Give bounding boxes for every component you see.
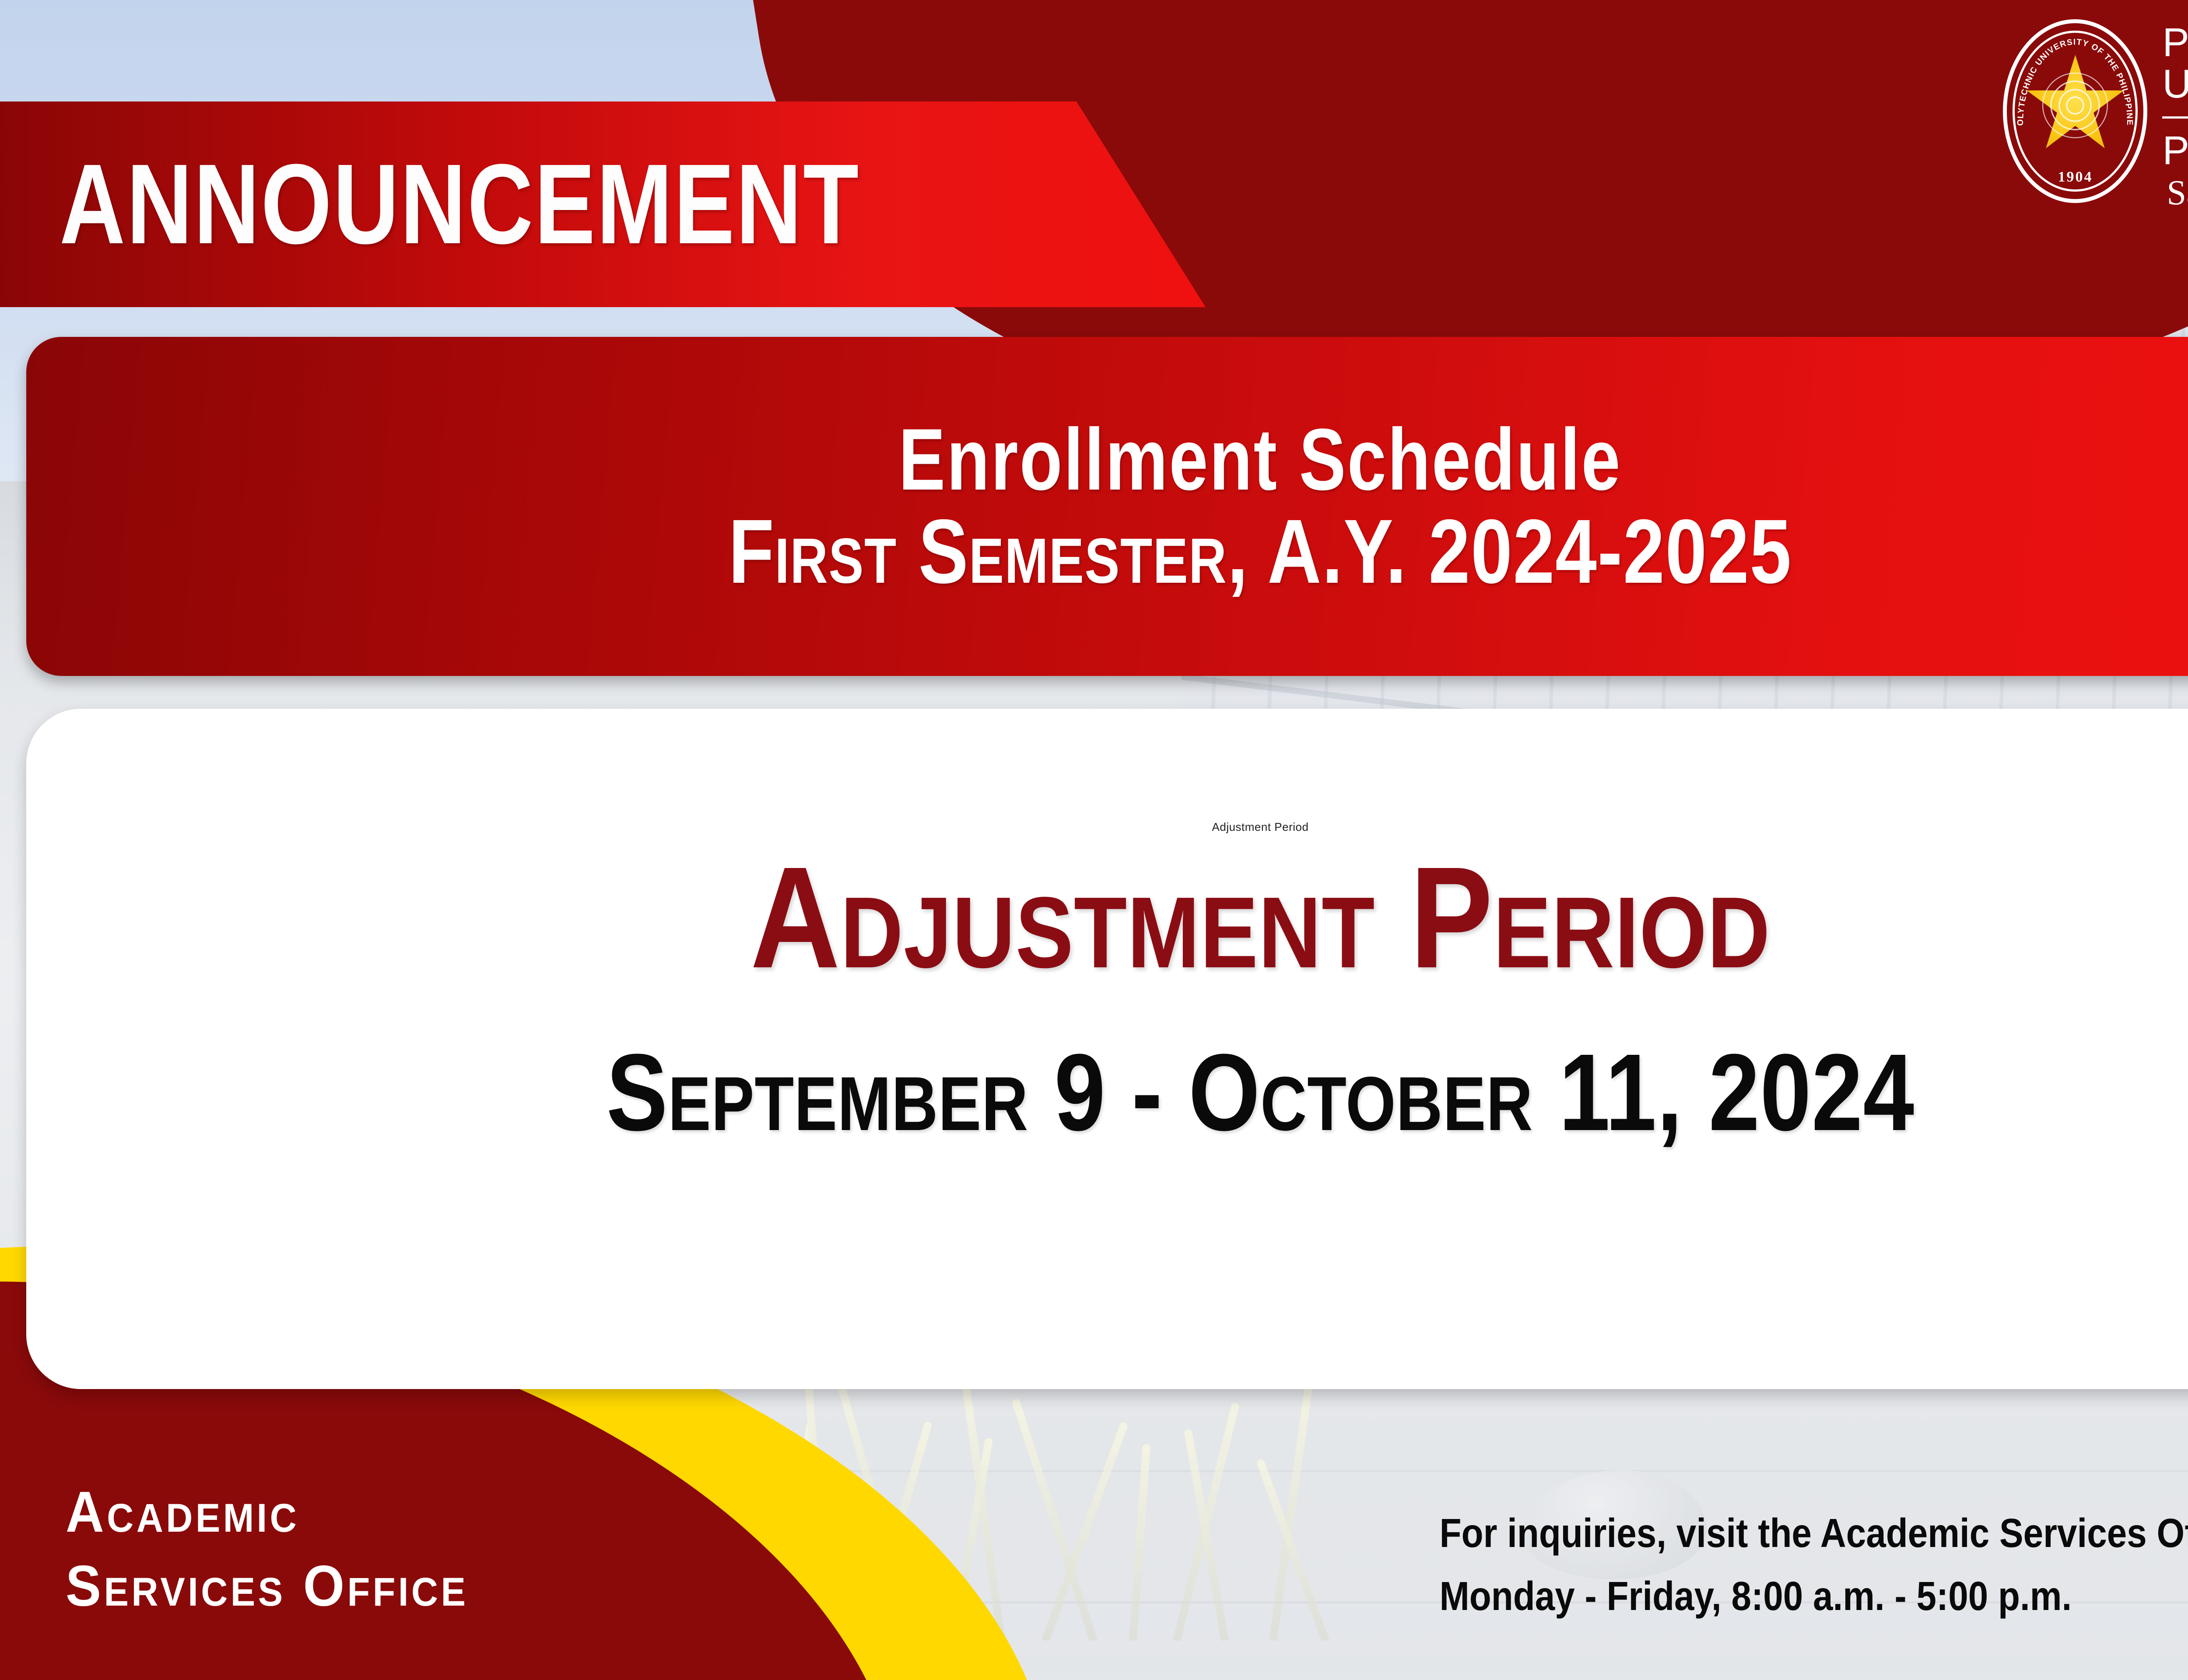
- academic-services-office-label: Academic Services Office: [66, 1475, 503, 1623]
- announcement-ribbon-label: ANNOUNCEMENT: [0, 147, 860, 261]
- inquiry-line1: For inquiries, visit the Academic Servic…: [1440, 1501, 2188, 1564]
- enrollment-schedule-banner: Enrollment Schedule First Semester, A.Y.…: [26, 337, 2188, 676]
- announcement-poster: ANNOUNCEMENT POLYTECHNIC UNIVERSITY OF T…: [0, 0, 2188, 1680]
- svg-text:POLYTECHNIC UNIVERSITY OF THE: POLYTECHNIC UNIVERSITY OF THE PHILIPPINE…: [2003, 19, 2134, 126]
- logo-word-university: UNIVERSITY: [2162, 63, 2188, 105]
- banner-line-enrollment-schedule: Enrollment Schedule: [899, 416, 1622, 504]
- pup-seal-icon: POLYTECHNIC UNIVERSITY OF THE PHILIPPINE…: [2003, 19, 2147, 203]
- card-date-range: September 9 - October 11, 2024: [606, 1038, 1914, 1147]
- logo-word-polytechnic: POLYTECHNIC: [2162, 22, 2188, 63]
- office-label-line1: Academic: [66, 1475, 468, 1549]
- inquiry-line2: Monday - Friday, 8:00 a.m. - 5:00 p.m.: [1440, 1564, 2188, 1627]
- logo-word-philippines: PHILIPPINES: [2162, 130, 2188, 171]
- office-label-line2: Services Office: [66, 1549, 468, 1623]
- card-micro-label: Adjustment Period: [1212, 820, 1309, 834]
- seal-arc-label: POLYTECHNIC UNIVERSITY OF THE PHILIPPINE…: [2003, 19, 2134, 126]
- logo-campus-label: Santa Rosa Campus: [2162, 175, 2188, 211]
- logo-of-the-row: OF THE: [2162, 105, 2188, 130]
- card-title-adjustment-period: Adjustment Period: [750, 845, 1771, 990]
- pup-logo-block: POLYTECHNIC UNIVERSITY OF THE PHILIPPINE…: [2003, 13, 2188, 211]
- announcement-ribbon: ANNOUNCEMENT: [0, 101, 1208, 307]
- adjustment-period-card: Adjustment Period Adjustment Period Sept…: [26, 709, 2188, 1389]
- inquiry-info-block: For inquiries, visit the Academic Servic…: [1297, 1501, 2188, 1627]
- logo-divider-rule: [2162, 116, 2188, 119]
- seal-year-label: 1904: [2003, 169, 2147, 185]
- banner-line-semester: First Semester, A.Y. 2024-2025: [729, 506, 1792, 597]
- pup-logo-wordmark: POLYTECHNIC UNIVERSITY OF THE PHILIPPINE…: [2162, 13, 2188, 211]
